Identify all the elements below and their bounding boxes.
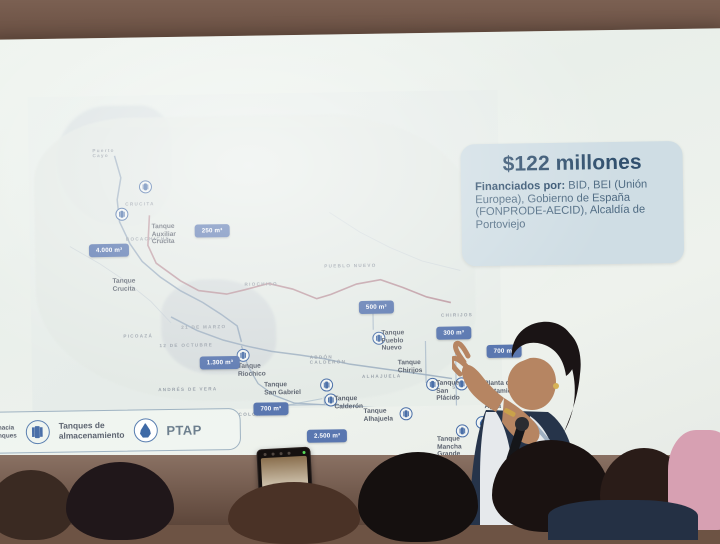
legend-left-text-2-wrap: hacia nques xyxy=(0,424,17,441)
parish-label: ABDÓN CALDERÓN xyxy=(310,354,347,365)
tank-node-icon xyxy=(320,378,333,391)
slide: Proyecto Base xyxy=(0,28,720,471)
tank-volume-badge: 1.300 m³ xyxy=(200,356,241,370)
finance-amount: $122 millones xyxy=(474,150,669,177)
tank-node-icon xyxy=(115,208,128,221)
tank-node-icon xyxy=(399,407,412,420)
finance-description: Financiados por: BID, BEI (Unión Europea… xyxy=(475,178,671,232)
tank-node-icon xyxy=(139,180,152,193)
tank-glyph xyxy=(242,352,245,359)
phone-camera-dots xyxy=(263,451,290,455)
parish-label: PICOAZÁ xyxy=(123,333,153,338)
tank-glyph xyxy=(35,426,40,438)
tank-glyph xyxy=(377,335,380,342)
parish-label: RIOCHICO xyxy=(244,281,277,287)
water-drop-glyph xyxy=(139,423,151,438)
tank-name-label: Tanque Pueblo Nuevo xyxy=(381,329,404,352)
phone-recording-led xyxy=(302,450,306,454)
tank-name-label: Tanque San Gabriel xyxy=(264,381,301,397)
tank-glyph xyxy=(325,382,328,389)
parish-label: ALHAJUELA xyxy=(362,373,402,379)
tank-volume-badge: 250 m³ xyxy=(195,224,230,238)
tank-glyph xyxy=(120,211,123,218)
tank-name-label: Tanque Calderón xyxy=(334,395,363,411)
parish-label: 21 DE MARZO xyxy=(181,324,226,330)
tank-name-label: Tanque Chirijos xyxy=(398,359,423,375)
tank-volume-badge: 2.500 m³ xyxy=(307,429,348,443)
finance-funded-by-label: Financiados por: xyxy=(475,180,565,193)
legend-ptap-label: PTAP xyxy=(166,422,202,438)
tank-glyph xyxy=(329,396,332,403)
storage-tank-icon xyxy=(26,420,50,444)
tank-glyph xyxy=(405,410,408,417)
tank-volume-badge: 4.000 m³ xyxy=(89,244,130,258)
tank-glyph xyxy=(431,381,434,388)
ptap-drop-icon xyxy=(133,418,157,442)
parish-label: ANDRÉS DE VERA xyxy=(158,386,217,392)
tank-name-label: Tanque Crucita xyxy=(112,278,135,294)
parish-label: 12 DE OCTUBRE xyxy=(159,342,213,348)
map-legend: ra de cción AP hacia nques Tanques de al… xyxy=(0,408,241,455)
tank-glyph xyxy=(144,183,147,190)
finance-panel: $122 millones Financiados por: BID, BEI … xyxy=(460,141,684,266)
audience-shoulder xyxy=(548,500,698,540)
projection-screen: Proyecto Base xyxy=(0,28,720,471)
parish-label: CRUCITA xyxy=(125,201,155,206)
legend-tanks-label: Tanques de almacenamiento xyxy=(59,421,125,442)
tank-volume-badge: 700 m³ xyxy=(253,402,288,416)
parish-label: Puerto Cayo xyxy=(92,148,115,158)
tank-volume-badge: 500 m³ xyxy=(359,300,394,314)
project-map: CRUCITABOCACHICHERIOCHICOPUEBLO NUEVOCHI… xyxy=(28,90,503,412)
tank-name-label: Tanque Alhajuela xyxy=(363,408,393,424)
legend-left-text-2: hacia nques xyxy=(0,424,17,440)
tank-name-label: Tanque Riochico xyxy=(238,362,266,378)
tank-name-label: Tanque Auxiliar Crucita xyxy=(152,223,177,246)
parish-label: PUEBLO NUEVO xyxy=(324,263,376,269)
